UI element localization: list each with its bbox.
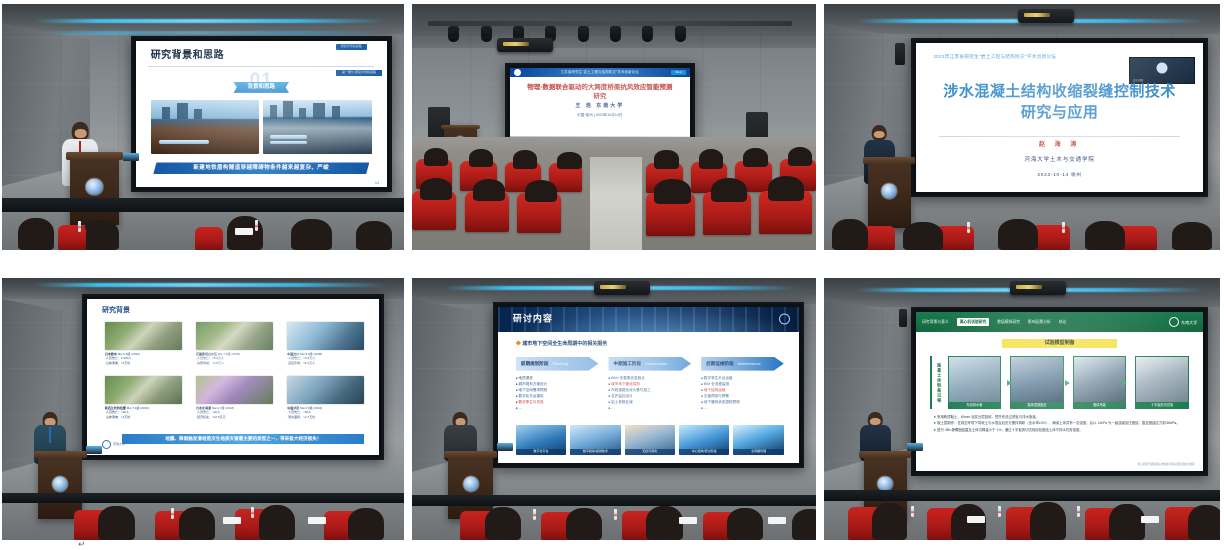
- slide-4: 研究背景 日本熊本 Mw 6.5级 (2016) ·人员伤亡：2,300人 ·山…: [87, 299, 378, 455]
- case-detail-1: ·人员伤亡：>90人: [287, 410, 311, 414]
- name-plate: [967, 516, 985, 523]
- water-bottle: [967, 222, 970, 233]
- name-plate: [223, 517, 241, 524]
- name-plate: [235, 228, 253, 235]
- presenter-head: [872, 125, 887, 142]
- case-item: 中国汶川 Mw 8.0级 (2008) ·人员伤亡：>6.9万人 ·直接影响：>…: [287, 322, 364, 373]
- slide-title: 研究背景: [102, 307, 130, 316]
- case-magnitude: Mw 7.1级 (2016): [127, 406, 149, 410]
- nav-tab-conclusion[interactable]: 结论: [1059, 320, 1067, 325]
- phase-column: 后期运维阶段 Maintenance 数字孪生平台运营 BIM 全流程监测 地下…: [701, 357, 784, 423]
- audience-head: [473, 179, 505, 202]
- audience-head: [872, 503, 908, 540]
- case-magnitude: Mw 6.8级 (2022): [300, 406, 322, 410]
- slide-title-line-1: 涉水混凝土结构收缩裂缝控制技术: [930, 81, 1188, 103]
- podium-top: [444, 451, 497, 458]
- audience-head: [998, 219, 1038, 250]
- case-detail-2: ·山体滑坡：>4万处: [105, 361, 130, 365]
- water-bottle: [251, 507, 254, 518]
- case-photo: [287, 322, 364, 349]
- process-side-label: 路基土体制备过程: [930, 356, 946, 408]
- audience-crowd: [412, 137, 816, 250]
- slide-1: 研究背景和思路 研究背景和思路 第一部分 研究背景和思路 01 背景和思路: [136, 41, 387, 188]
- audience-head: [768, 176, 804, 201]
- slide-corner-tag: 研究背景和思路: [336, 44, 367, 50]
- slide-6: 研究背景与意义 离心机试验研究 数值模拟研究 影响因素分析 结论 东南大学 试验…: [916, 312, 1203, 471]
- wall-speaker: [899, 309, 907, 327]
- slide-nav-bar: 研究背景与意义 离心机试验研究 数值模拟研究 影响因素分析 结论 东南大学: [916, 312, 1203, 333]
- photo-3: 2023年江苏省研究生"岩土工程与结构防灾"学术创新论坛 会议 视频 涉水混凝土…: [824, 4, 1220, 250]
- slide-title: 研讨内容: [513, 313, 553, 324]
- phase-item-list: 地质调查 城市规划方案设计 地下空间需求预测 数字化平台建设 数字孪生与仿真 …: [516, 375, 599, 412]
- slide-header-bar: 研讨内容: [498, 307, 799, 332]
- audience-head: [525, 180, 557, 203]
- nav-tab-centrifuge[interactable]: 离心机试验研究: [957, 318, 990, 326]
- slide-subtitle: 试验模型制备: [1002, 339, 1117, 348]
- audience-head: [566, 508, 602, 540]
- audience-head: [420, 178, 452, 201]
- case-caption: 日本熊本 Mw 6.5级 (2016) ·人员伤亡：2,300人 ·山体滑坡：>…: [105, 352, 182, 366]
- phase-name-zh: 前期规划阶段: [521, 361, 549, 367]
- body-bullet: 进行 48h 静置固结直至土体沉降量小于 1%，通过十字板剪切试验检验固结土体不…: [933, 427, 1188, 433]
- phase-columns: 前期规划阶段 Planning 地质调查 城市规划方案设计 地下空间需求预测 数…: [516, 357, 784, 423]
- case-item: 巴基斯坦白沙瓦 Mw 7.6级 (2005) ·人员伤亡：>8.6万人 ·房屋倒…: [196, 322, 273, 373]
- presenter-laptop: [86, 446, 102, 454]
- case-photo: [105, 322, 182, 349]
- case-magnitude: Mw 6.7级 (2018): [212, 406, 234, 410]
- university-emblem: [53, 476, 68, 491]
- water-bottle: [614, 509, 617, 520]
- audience-front-row-3: [824, 211, 1220, 250]
- photo-cell-bottom-middle: 研讨内容 城市地下空间全生命周期中的相关服务 前期规划阶段 Planning: [408, 262, 820, 550]
- audience-head: [485, 507, 521, 540]
- forum-badge-icon: [514, 69, 521, 76]
- slide-thumbnail-row: 数字化平台 数字模拟/探测技术 无损可视化 中心结构/研讨阶段: [516, 425, 784, 455]
- photo-1: 研究背景和思路 研究背景和思路 第一部分 研究背景和思路 01 背景和思路: [2, 4, 404, 250]
- process-step-photo: 十字板剪切试验: [1135, 356, 1189, 408]
- audience-head: [179, 507, 215, 540]
- slide-image-tunnel: [263, 100, 372, 154]
- water-bottle: [533, 509, 536, 520]
- slide-header-bar: 江苏省研究生"岩土工程与结构防灾"学术创新论坛 SEU: [510, 68, 690, 77]
- university-emblem: [878, 476, 893, 491]
- paragraph-mark: ↵: [78, 539, 86, 550]
- audience-head: [82, 220, 118, 250]
- slide-header-text: 2023年江苏省研究生"岩土工程与结构防灾"学术创新论坛: [933, 54, 1056, 60]
- avatar: [1156, 63, 1167, 74]
- slide-date: 中国·徐州 | 2023年10月14日: [510, 113, 690, 117]
- case-caption: 中国汶川 Mw 8.0级 (2008) ·人员伤亡：>6.9万人 ·直接影响：>…: [287, 352, 364, 366]
- case-detail-1: ·人员伤亡：2,300人: [105, 356, 132, 360]
- ceiling-light-strip: [34, 283, 388, 287]
- audience-head: [832, 219, 868, 250]
- case-grid: 日本熊本 Mw 6.5级 (2016) ·人员伤亡：2,300人 ·山体滑坡：>…: [105, 322, 364, 427]
- case-detail-2: ·山体滑坡：>1万处: [105, 415, 130, 419]
- slide-image-construction: [151, 100, 260, 154]
- projector: [1018, 9, 1074, 23]
- case-name: 中国泸定: [287, 406, 299, 410]
- thumbnail-caption: 数字化平台: [516, 449, 566, 455]
- audience-head: [1109, 504, 1145, 540]
- projector: [1010, 281, 1066, 295]
- front-desk: [2, 493, 404, 503]
- slide-thumbnail: 中心结构/研讨阶段: [679, 425, 729, 455]
- phase-column: 中期施工阶段 Construction BIM+多要素信息融合 城市地下管线探测…: [608, 357, 691, 423]
- photo-cell-top-left: 研究背景和思路 研究背景和思路 第一部分 研究背景和思路 01 背景和思路: [0, 0, 408, 262]
- slide-page-number: 04: [375, 180, 379, 185]
- audience-head: [788, 147, 812, 166]
- slide-banner: 地震、降雨触发滑坡是次生地质灾害最主要的类型之一，带来极大经济损失！: [122, 434, 364, 444]
- slide-date: 2023-10-14 徐州: [916, 172, 1203, 178]
- case-detail-2: ·直接影响：>8.3万人: [287, 361, 315, 365]
- step-caption: 箱体吊装: [1074, 402, 1126, 408]
- title-rule: [148, 66, 374, 67]
- case-caption: 中国泸定 Mw 6.8级 (2022) ·人员伤亡：>90人 ·受灾面积：>2.…: [287, 406, 364, 420]
- case-item: 日本熊本 Mw 6.5级 (2016) ·人员伤亡：2,300人 ·山体滑坡：>…: [105, 322, 182, 373]
- slide-side-tag: 第一部分 研究背景和思路: [336, 70, 382, 76]
- podium-top: [34, 451, 87, 458]
- phase-name-en: Maintenance: [738, 361, 761, 366]
- thumbnail-caption: 全周期管理: [733, 449, 783, 455]
- audience-head: [291, 219, 331, 250]
- university-logo: 东南大学: [1169, 317, 1197, 327]
- photo-cell-top-right: 2023年江苏省研究生"岩土工程与结构防灾"学术创新论坛 会议 视频 涉水混凝土…: [820, 0, 1224, 262]
- nav-tab-background[interactable]: 研究背景与意义: [922, 320, 949, 325]
- case-detail-1: ·人员伤亡：>30人: [105, 410, 129, 414]
- slide-2: 江苏省研究生"岩土工程与结构防灾"学术创新论坛 SEU 物理-数据联合驱动的大跨…: [510, 68, 690, 141]
- ceiling-light-strip: [34, 19, 388, 23]
- photo-cell-bottom-right: 研究背景与意义 离心机试验研究 数值模拟研究 影响因素分析 结论 东南大学 试验…: [820, 262, 1224, 550]
- water-bottle: [255, 220, 258, 231]
- front-desk: [2, 198, 404, 211]
- audience-head: [557, 152, 581, 169]
- name-plate: [679, 517, 697, 524]
- slide-thumbnail: 无损可视化: [625, 425, 675, 455]
- step-caption: 十字板剪切试验: [1136, 402, 1188, 408]
- slide-3: 2023年江苏省研究生"岩土工程与结构防灾"学术创新论坛 会议 视频 涉水混凝土…: [916, 43, 1203, 192]
- case-photo: [287, 376, 364, 403]
- case-name: 日本北海道: [196, 406, 211, 410]
- nav-tab-factors[interactable]: 影响因素分析: [1028, 320, 1051, 325]
- audience-head: [743, 148, 767, 167]
- case-item: 新西兰坎特伯雷 Mw 7.1级 (2016) ·人员伤亡：>30人 ·山体滑坡：…: [105, 376, 182, 427]
- nav-tab-simulation[interactable]: 数值模拟研究: [997, 320, 1020, 325]
- seat: [58, 225, 86, 250]
- slide-bullet-heading: 城市地下空间全生命周期中的相关服务: [516, 341, 607, 347]
- slide-title-line-2: 研究与应用: [930, 102, 1188, 124]
- projection-screen-1: 研究背景和思路 研究背景和思路 第一部分 研究背景和思路 01 背景和思路: [131, 36, 392, 193]
- audience-front-row-6: [824, 490, 1220, 540]
- phase-item-list: 数字孪生平台运营 BIM 全流程监测 地下结构运维 灾害预测与预警 地下管网状态…: [701, 375, 784, 412]
- front-desk: [824, 490, 1220, 501]
- university-emblem: [882, 183, 897, 198]
- podium-top: [441, 125, 480, 129]
- water-bottle: [78, 221, 81, 232]
- name-plate: [1141, 516, 1159, 523]
- name-plate: [768, 517, 786, 524]
- name-plate: [308, 517, 326, 524]
- projection-screen-5: 研讨内容 城市地下空间全生命周期中的相关服务 前期规划阶段 Planning: [493, 302, 804, 468]
- slide-5: 研讨内容 城市地下空间全生命周期中的相关服务 前期规划阶段 Planning: [498, 307, 799, 463]
- case-caption: 日本北海道 Mw 6.7级 (2018) ·人员伤亡：>40人 ·经济损失：>1…: [196, 406, 273, 420]
- case-detail-1: ·人员伤亡：>8.6万人: [196, 356, 224, 360]
- phase-name-en: Planning: [552, 361, 568, 366]
- audience-front-row-5: [412, 495, 816, 540]
- presenter-laptop: [123, 153, 139, 161]
- slide-header-text: 江苏省研究生"岩土工程与结构防灾"学术创新论坛: [561, 70, 639, 74]
- audience-head: [654, 179, 690, 204]
- seat: [195, 227, 223, 250]
- case-detail-2: ·房屋倒塌：>3.8万人: [196, 361, 224, 365]
- university-emblem: [86, 179, 102, 195]
- case-detail-1: ·人员伤亡：>40人: [196, 410, 220, 414]
- photo-4: 研究背景 日本熊本 Mw 6.5级 (2016) ·人员伤亡：2,300人 ·山…: [2, 278, 404, 540]
- projection-screen-4: 研究背景 日本熊本 Mw 6.5级 (2016) ·人员伤亡：2,300人 ·山…: [82, 294, 383, 460]
- audience-head: [646, 506, 682, 540]
- host-logo: SEU: [671, 70, 686, 76]
- phase-name-zh: 后期运维阶段: [706, 361, 734, 367]
- phase-item: …: [701, 405, 784, 411]
- projection-screen-3: 2023年江苏省研究生"岩土工程与结构防灾"学术创新论坛 会议 视频 涉水混凝土…: [911, 38, 1208, 197]
- process-step-photo: 布设排水管: [948, 356, 1002, 408]
- projector: [594, 281, 650, 295]
- water-bottle: [998, 506, 1001, 517]
- slide-author: 赵 海 涛: [916, 142, 1203, 150]
- case-caption: 巴基斯坦白沙瓦 Mw 7.6级 (2005) ·人员伤亡：>8.6万人 ·房屋倒…: [196, 352, 273, 366]
- slide-author: 王 浩 东南大学: [510, 103, 690, 109]
- university-logo: [779, 314, 790, 325]
- audience-head: [1085, 221, 1125, 250]
- case-photo: [196, 376, 273, 403]
- photo-cell-top-middle: 江苏省研究生"岩土工程与结构防灾"学术创新论坛 SEU 物理-数据联合驱动的大跨…: [408, 0, 820, 262]
- podium-top: [66, 152, 124, 160]
- podium-top: [859, 451, 911, 458]
- case-detail-1: ·人员伤亡：>6.9万人: [287, 356, 315, 360]
- audience-head: [259, 505, 295, 540]
- body-bullet: 软土层制作：在真空环境下将软土与水混合后充分搅拌调和（含水率≥3%），确保土体具…: [933, 420, 1188, 426]
- front-desk: [412, 495, 816, 506]
- projection-screen-6: 研究背景与意义 离心机试验研究 数值模拟研究 影响因素分析 结论 东南大学 试验…: [911, 307, 1208, 476]
- slide-thumbnail: 数字模拟/探测技术: [570, 425, 620, 455]
- slide-thumbnail: 全周期管理: [733, 425, 783, 455]
- audience-head: [424, 148, 448, 166]
- photo-5: 研讨内容 城市地下空间全生命周期中的相关服务 前期规划阶段 Planning: [412, 278, 816, 540]
- case-detail-2: ·受灾面积：>2.7万处: [287, 415, 315, 419]
- phase-header: 后期运维阶段 Maintenance: [701, 357, 784, 371]
- university-logo: 河海大学: [102, 440, 125, 449]
- university-emblem: [463, 476, 478, 491]
- phase-item: …: [608, 405, 691, 411]
- case-photo: [196, 322, 273, 349]
- audience-head: [356, 221, 392, 250]
- presenter-laptop: [907, 443, 923, 451]
- water-bottle: [1077, 506, 1080, 517]
- logo-ring-icon: [102, 440, 111, 449]
- slide-organization: 河海大学土木与交通学院: [916, 157, 1203, 164]
- photo-2: 江苏省研究生"岩土工程与结构防灾"学术创新论坛 SEU 物理-数据联合驱动的大跨…: [412, 4, 816, 250]
- slide-image-row: [151, 100, 372, 154]
- audience-head: [727, 508, 763, 540]
- logo-ring-icon: [1169, 317, 1179, 327]
- step-caption: 布设排水管: [949, 402, 1001, 408]
- slide-title: 涉水混凝土结构收缩裂缝控制技术 研究与应用: [930, 81, 1188, 125]
- title-rule: [939, 136, 1180, 137]
- audience-head: [1172, 222, 1212, 250]
- phase-name-en: Construction: [645, 361, 667, 366]
- audience-front-row-4: [2, 493, 404, 540]
- water-bottle: [171, 508, 174, 519]
- wall-speaker: [895, 43, 905, 65]
- slide-title: 研究背景和思路: [151, 50, 225, 63]
- case-photo: [105, 376, 182, 403]
- slide-footnote: 离心机模型试验相关内容参考相关规范及技术规程: [1137, 463, 1194, 466]
- section-ribbon: 背景和思路: [233, 82, 289, 93]
- phase-column: 前期规划阶段 Planning 地质调查 城市规划方案设计 地下空间需求预测 数…: [516, 357, 599, 423]
- audience-head: [1188, 505, 1220, 540]
- case-item: 日本北海道 Mw 6.7级 (2018) ·人员伤亡：>40人 ·经济损失：>1…: [196, 376, 273, 427]
- photo-grid: 研究背景和思路 研究背景和思路 第一部分 研究背景和思路 01 背景和思路: [0, 0, 1224, 550]
- screenshot-root: 研究背景和思路 研究背景和思路 第一部分 研究背景和思路 01 背景和思路: [0, 0, 1224, 550]
- photo-6: 研究背景与意义 离心机试验研究 数值模拟研究 影响因素分析 结论 东南大学 试验…: [824, 278, 1220, 540]
- presenter-lanyard: [49, 427, 51, 443]
- step-arrow-icon: [1007, 380, 1012, 386]
- presenter-laptop: [497, 443, 513, 451]
- slide-body-text: 采用粉质黏土，60mm 泥浆分层回填，预先布设过滤板与排水管道。 软土层制作：在…: [933, 414, 1188, 433]
- slide-thumbnail: 数字化平台: [516, 425, 566, 455]
- audience-head: [98, 506, 134, 540]
- audience-head: [654, 150, 678, 168]
- audience-head: [903, 222, 943, 250]
- step-arrow-icon: [1122, 380, 1127, 386]
- water-bottle: [911, 506, 914, 517]
- audience-front-row-1: [2, 198, 404, 250]
- thumbnail-caption: 数字模拟/探测技术: [570, 449, 620, 455]
- thumbnail-caption: 中心结构/研讨阶段: [679, 449, 729, 455]
- slide-title: 物理-数据联合驱动的大跨度桥梁抗风效应智能预测研究: [524, 83, 675, 103]
- water-bottle: [1062, 222, 1065, 233]
- logo-text: 河海大学: [113, 443, 125, 447]
- audience-head: [1030, 502, 1066, 540]
- phase-name-zh: 中期施工阶段: [613, 361, 641, 367]
- logo-ring-icon: [779, 314, 790, 325]
- podium-top: [863, 157, 915, 165]
- case-detail-2: ·经济损失：>12.6亿元: [196, 415, 226, 419]
- process-step-photo: 箱体吊装: [1073, 356, 1127, 408]
- step-arrow-icon: [1065, 380, 1070, 386]
- phase-header: 中期施工阶段 Construction: [608, 357, 691, 371]
- thumbnail-caption: 无损可视化: [625, 449, 675, 455]
- audience-head: [348, 508, 384, 540]
- audience-head: [469, 149, 493, 167]
- audience-head: [699, 149, 723, 168]
- audience-head: [513, 150, 537, 168]
- phase-item-list: BIM+多要素信息融合 城市地下管线探测 市政道路及深大基坑施工 支护监控设计 …: [608, 375, 691, 412]
- case-caption: 新西兰坎特伯雷 Mw 7.1级 (2016) ·人员伤亡：>30人 ·山体滑坡：…: [105, 406, 182, 420]
- projection-screen-2: 江苏省研究生"岩土工程与结构防灾"学术创新论坛 SEU 物理-数据联合驱动的大跨…: [505, 63, 695, 146]
- process-step-photo: 箱体顶部固定: [1010, 356, 1064, 408]
- audience-head: [792, 509, 816, 540]
- audience-head: [18, 218, 54, 250]
- step-caption: 箱体顶部固定: [1011, 402, 1063, 408]
- center-aisle: [590, 157, 643, 250]
- photo-cell-bottom-left: 研究背景 日本熊本 Mw 6.5级 (2016) ·人员伤亡：2,300人 ·山…: [0, 262, 408, 550]
- audience-head: [711, 178, 747, 203]
- slide-banner: 新建地铁盾构隧道穿越障碍物条件越来越复杂、严峻: [153, 162, 369, 174]
- phase-item: …: [516, 405, 599, 411]
- logo-text: 东南大学: [1181, 320, 1197, 325]
- process-step-row: 布设排水管 箱体顶部固定 箱体吊装 十字板剪切试验: [948, 356, 1189, 408]
- case-item: 中国泸定 Mw 6.8级 (2022) ·人员伤亡：>90人 ·受灾面积：>2.…: [287, 376, 364, 427]
- phase-header: 前期规划阶段 Planning: [516, 357, 599, 371]
- case-name: 新西兰坎特伯雷: [105, 406, 126, 410]
